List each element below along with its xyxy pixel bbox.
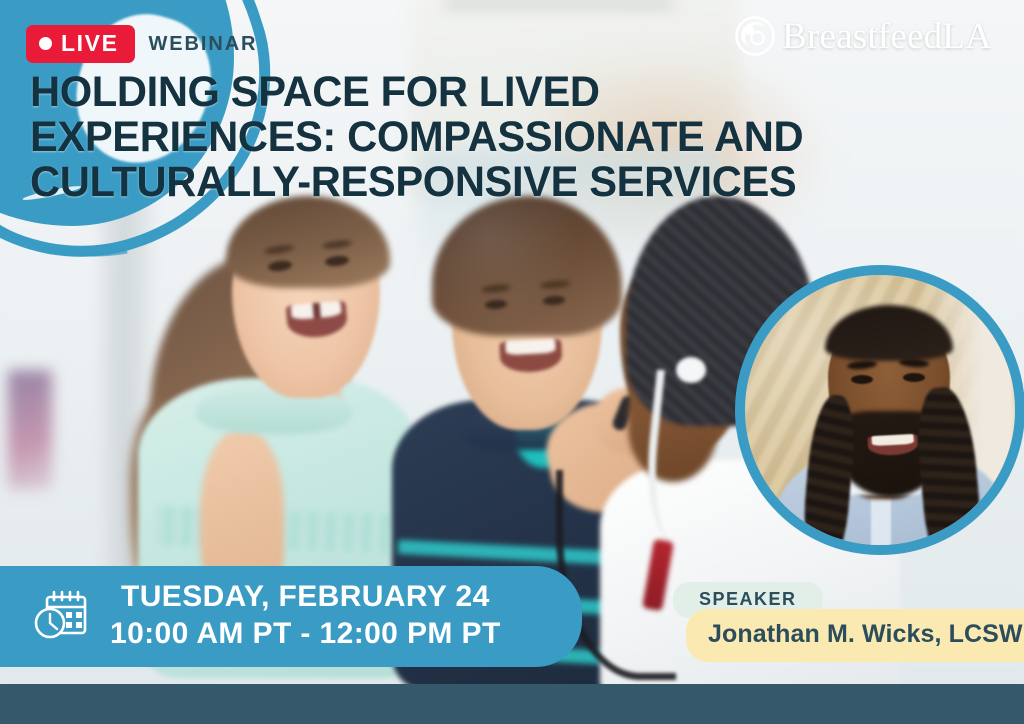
breastfeedla-circle-mark-icon [733,14,777,58]
child-boy-hair [432,196,622,336]
title-line-2: EXPERIENCES: COMPASSIONATE AND [30,115,952,160]
child-boy-stripe [398,540,638,567]
child-girl-neck [278,372,340,424]
date-time-banner: TUESDAY, FEBRUARY 24 10:00 AM PT - 12:00… [0,566,582,667]
webinar-flyer: LIVE WEBINAR HOLDING SPACE FOR LIVED EXP… [0,0,1024,724]
stethoscope-cord [556,470,676,680]
title-line-1: HOLDING SPACE FOR LIVED [30,70,952,115]
live-badge-label: LIVE [61,32,119,55]
child-girl-hair [150,255,350,585]
page-title: HOLDING SPACE FOR LIVED EXPERIENCES: COM… [30,70,952,205]
child-boy-hand [596,388,672,454]
live-webinar-badge-row: LIVE WEBINAR [26,25,257,63]
child-girl-eye-right [325,255,350,267]
stethoscope-earpiece [676,357,706,383]
child-girl-smile [286,300,349,339]
breastfeedla-logo-text: BreastfeedLA [782,18,992,55]
clinician-jaw [628,372,718,482]
child-boy-brow-left [481,283,512,293]
child-boy-smile [499,338,563,373]
event-date: TUESDAY, FEBRUARY 24 [110,579,501,616]
webinar-label: WEBINAR [149,33,258,56]
child-boy-face [452,250,602,430]
speaker-name: Jonathan M. Wicks, LCSW [686,609,1024,662]
child-boy-brow-right [540,280,570,290]
clinician-badge-lanyard [642,539,674,611]
child-boy-eye-left [485,299,508,310]
background-picture-frame [8,370,52,490]
child-boy-arm [538,387,698,524]
breastfeedla-logo[interactable]: BreastfeedLA [733,14,992,58]
event-time: 10:00 AM PT - 12:00 PM PT [110,616,501,653]
child-boy-eye-right [543,295,566,306]
calendar-clock-icon [32,588,90,644]
stethoscope-tube [639,369,714,544]
live-dot-icon [39,37,52,50]
child-girl-dress-ruffle [196,386,352,434]
speaker-headshot [735,265,1024,555]
speaker-eye-left [851,375,873,384]
child-girl-dress-band [154,506,405,555]
child-boy-held-object [611,394,637,433]
child-boy-undershirt [516,408,572,468]
bottom-bar [0,684,1024,724]
date-time-text: TUESDAY, FEBRUARY 24 10:00 AM PT - 12:00… [110,579,501,652]
child-boy-collar [466,404,586,450]
speaker-eye-right [903,373,925,382]
live-badge: LIVE [26,25,135,63]
child-girl-brow-right [322,239,353,250]
clinician-face [620,250,752,450]
title-line-3: CULTURALLY-RESPONSIVE SERVICES [30,160,952,205]
